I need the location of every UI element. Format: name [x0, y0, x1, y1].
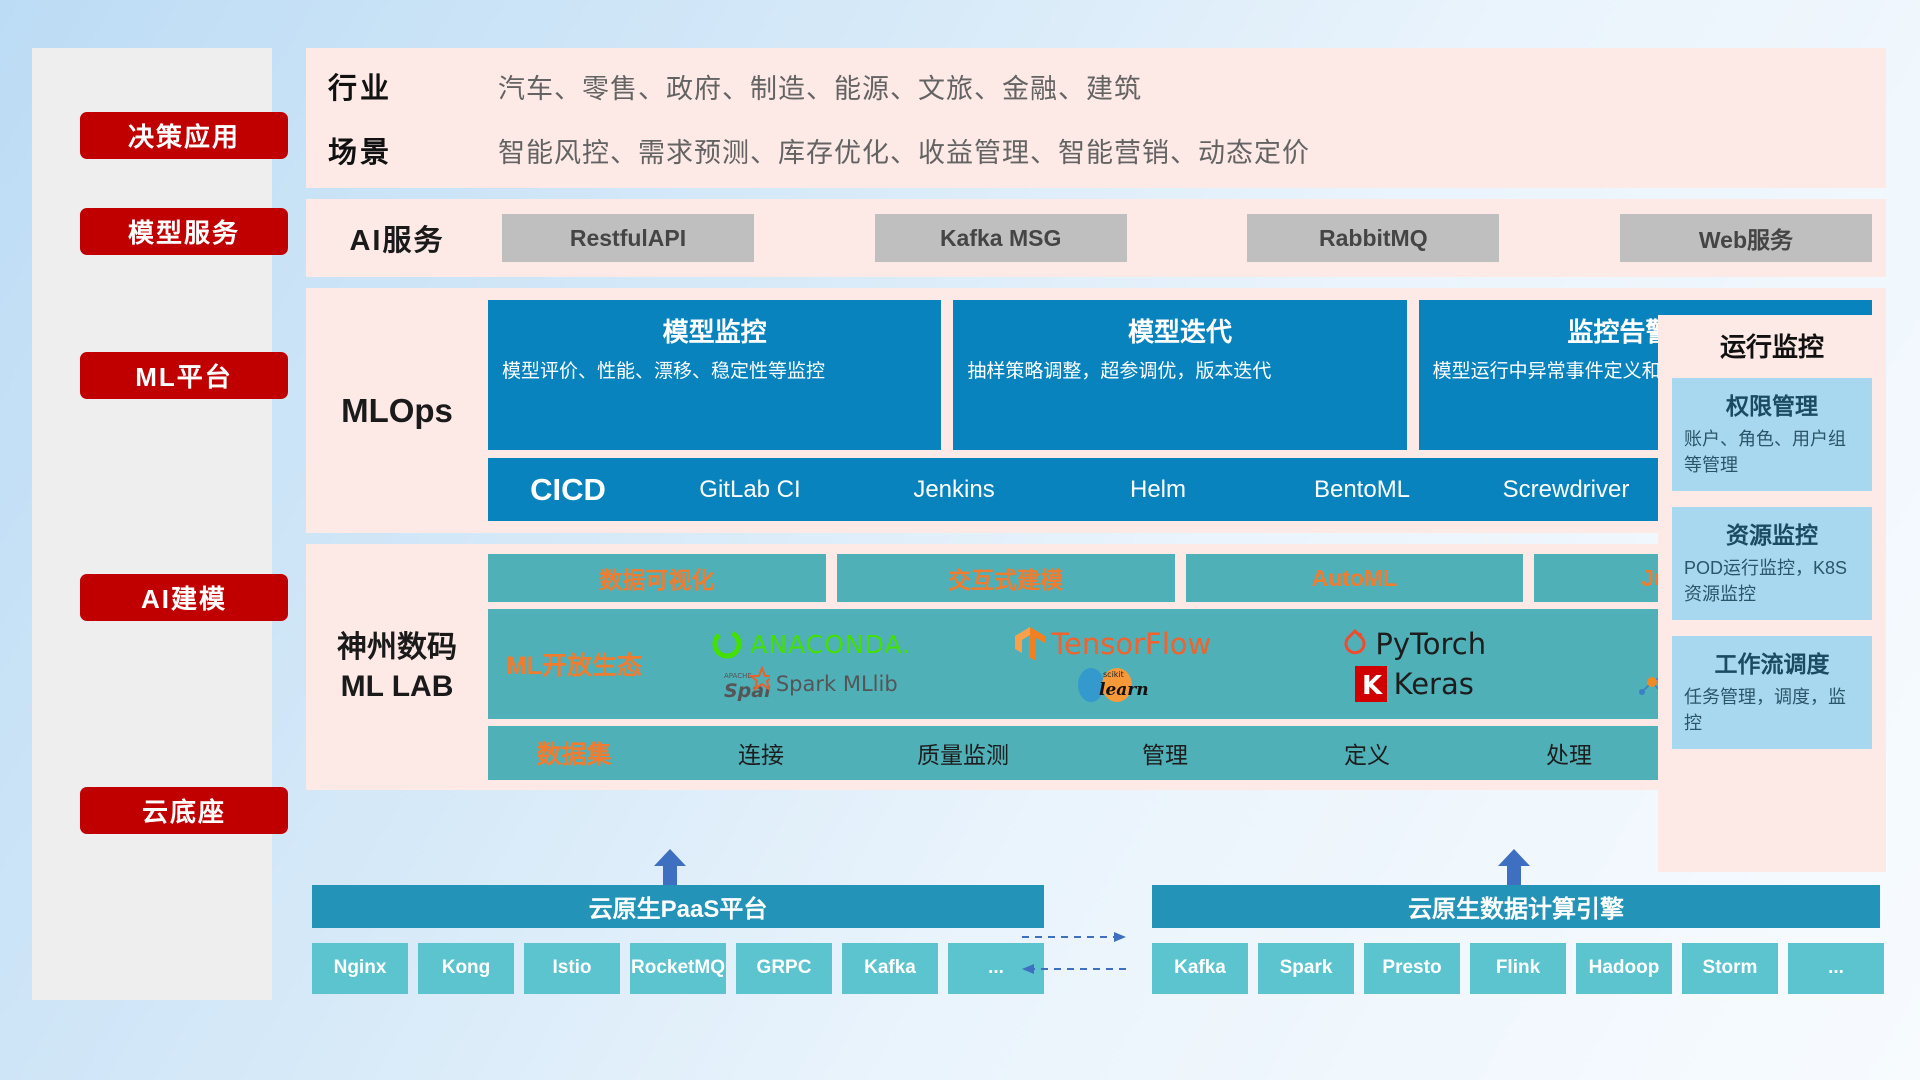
chip-kafka-right[interactable]: Kafka [1152, 943, 1248, 994]
left-rail: 决策应用 模型服务 ML平台 AI建模 云底座 [32, 48, 272, 1000]
card-desc: POD运行监控，K8S资源监控 [1684, 556, 1860, 607]
cicd-item-bentoml[interactable]: BentoML [1260, 474, 1464, 505]
rail-item-decision-app[interactable]: 决策应用 [80, 112, 288, 159]
monitor-card-workflow[interactable]: 工作流调度 任务管理，调度，监控 [1672, 636, 1872, 749]
mlops-band: MLOps 模型监控 模型评价、性能、漂移、稳定性等监控 模型迭代 抽样策略调整… [306, 288, 1886, 533]
industry-row: 行业 汽车、零售、政府、制造、能源、文旅、金融、建筑 [488, 65, 1866, 107]
keras-logo-text: Keras [1394, 667, 1474, 701]
architecture-diagram: 决策应用 模型服务 ML平台 AI建模 云底座 行业 汽车、零售、政府、制造、能… [0, 0, 1920, 1080]
service-kafka-msg[interactable]: Kafka MSG [875, 214, 1127, 262]
card-desc: 模型评价、性能、漂移、稳定性等监控 [502, 359, 927, 386]
mllab-band: 神州数码 ML LAB 数据可视化 交互式建模 AutoML JupyterLa… [306, 544, 1886, 790]
monitor-card-resource[interactable]: 资源监控 POD运行监控，K8S资源监控 [1672, 507, 1872, 620]
data-engine-bar[interactable]: 云原生数据计算引擎 [1152, 885, 1880, 928]
dataset-label: 数据集 [488, 735, 660, 771]
card-desc: 账户、角色、用户组等管理 [1684, 427, 1860, 478]
rail-item-cloud-base[interactable]: 云底座 [80, 787, 288, 834]
mlops-label: MLOps [306, 288, 488, 533]
chip-rocketmq[interactable]: RocketMQ [630, 943, 726, 994]
dataset-item-define[interactable]: 定义 [1266, 736, 1468, 770]
pytorch-mark-icon [1341, 627, 1369, 661]
svg-text:Spark: Spark [724, 680, 770, 702]
svg-text:K: K [1362, 671, 1383, 701]
runtime-monitor-title: 运行监控 [1720, 327, 1824, 364]
mllab-label: 神州数码 ML LAB [306, 544, 488, 790]
rail-item-ml-platform[interactable]: ML平台 [80, 352, 288, 399]
scenario-value: 智能风控、需求预测、库存优化、收益管理、智能营销、动态定价 [498, 131, 1310, 170]
bidirectional-dashed-connector [1020, 925, 1128, 981]
dataset-item-quality[interactable]: 质量监测 [862, 736, 1064, 770]
chip-storm[interactable]: Storm [1682, 943, 1778, 994]
cicd-label: CICD [488, 472, 648, 508]
tool-interactive-modeling[interactable]: 交互式建模 [837, 554, 1175, 602]
chip-istio[interactable]: Istio [524, 943, 620, 994]
chip-more-right[interactable]: ... [1788, 943, 1884, 994]
rail-item-model-service[interactable]: 模型服务 [80, 208, 288, 255]
pytorch-logo-text: PyTorch [1375, 627, 1486, 661]
mllib-logo-text: Spark MLlib [776, 672, 898, 696]
industry-band: 行业 汽车、零售、政府、制造、能源、文旅、金融、建筑 场景 智能风控、需求预测、… [306, 48, 1886, 188]
ai-service-label: AI服务 [306, 217, 488, 259]
rail-item-ai-modeling[interactable]: AI建模 [80, 574, 288, 621]
tensorflow-logo: TensorFlow [1013, 625, 1211, 663]
dataset-item-connect[interactable]: 连接 [660, 736, 862, 770]
industry-value: 汽车、零售、政府、制造、能源、文旅、金融、建筑 [498, 67, 1142, 106]
chip-flink[interactable]: Flink [1470, 943, 1566, 994]
mllab-label-line1: 神州数码 [337, 628, 457, 667]
paas-chip-group: Nginx Kong Istio RocketMQ GRPC Kafka ... [312, 943, 1044, 994]
mlops-card-model-monitoring[interactable]: 模型监控 模型评价、性能、漂移、稳定性等监控 [488, 300, 941, 450]
card-desc: 抽样策略调整，超参调优，版本迭代 [967, 359, 1392, 386]
chip-hadoop[interactable]: Hadoop [1576, 943, 1672, 994]
cicd-item-jenkins[interactable]: Jenkins [852, 474, 1056, 505]
cicd-item-gitlab-ci[interactable]: GitLab CI [648, 474, 852, 505]
service-restfulapi[interactable]: RestfulAPI [502, 214, 754, 262]
keras-mark-icon: K [1354, 665, 1388, 703]
dataset-item-manage[interactable]: 管理 [1064, 736, 1266, 770]
tool-data-visualization[interactable]: 数据可视化 [488, 554, 826, 602]
card-title: 权限管理 [1684, 387, 1860, 421]
card-title: 模型监控 [502, 312, 927, 349]
tensorflow-mark-icon [1013, 625, 1047, 663]
chip-presto[interactable]: Presto [1364, 943, 1460, 994]
spark-mark-icon: APACHE Spark [724, 666, 770, 702]
service-web[interactable]: Web服务 [1620, 214, 1872, 262]
svg-text:APACHE: APACHE [724, 672, 752, 680]
card-title: 工作流调度 [1684, 645, 1860, 679]
dataset-item-process[interactable]: 处理 [1468, 736, 1670, 770]
chip-grpc[interactable]: GRPC [736, 943, 832, 994]
chip-nginx[interactable]: Nginx [312, 943, 408, 994]
chip-spark[interactable]: Spark [1258, 943, 1354, 994]
monitor-card-permission[interactable]: 权限管理 账户、角色、用户组等管理 [1672, 378, 1872, 491]
card-title: 资源监控 [1684, 516, 1860, 550]
chip-kong[interactable]: Kong [418, 943, 514, 994]
spark-mllib-logo: APACHE Spark Spark MLlib [724, 666, 898, 702]
ml-ecosystem-label: ML开放生态 [488, 646, 660, 682]
pytorch-logo: PyTorch [1341, 627, 1486, 661]
paas-platform-bar[interactable]: 云原生PaaS平台 [312, 885, 1044, 928]
mllab-label-line2: ML LAB [341, 667, 454, 706]
anaconda-logo-text: ANACONDA. [750, 630, 911, 659]
anaconda-mark-icon [710, 627, 744, 661]
data-engine-chip-group: Kafka Spark Presto Flink Hadoop Storm ..… [1152, 943, 1884, 994]
card-title: 模型迭代 [967, 312, 1392, 349]
service-rabbitmq[interactable]: RabbitMQ [1247, 214, 1499, 262]
svg-text:learn: learn [1099, 680, 1149, 700]
keras-logo: K Keras [1354, 665, 1474, 703]
main-column: 行业 汽车、零售、政府、制造、能源、文旅、金融、建筑 场景 智能风控、需求预测、… [306, 48, 1886, 801]
scikit-learn-mark-icon: scikit learn [1073, 664, 1151, 704]
scenario-row: 场景 智能风控、需求预测、库存优化、收益管理、智能营销、动态定价 [488, 129, 1866, 171]
mlops-card-model-iteration[interactable]: 模型迭代 抽样策略调整，超参调优，版本迭代 [953, 300, 1406, 450]
chip-kafka[interactable]: Kafka [842, 943, 938, 994]
industry-key: 行业 [328, 65, 498, 107]
ai-service-band: AI服务 RestfulAPI Kafka MSG RabbitMQ Web服务 [306, 199, 1886, 277]
cicd-item-screwdriver[interactable]: Screwdriver [1464, 474, 1668, 505]
cicd-item-helm[interactable]: Helm [1056, 474, 1260, 505]
card-desc: 任务管理，调度，监控 [1684, 685, 1860, 736]
scenario-key: 场景 [328, 129, 498, 171]
anaconda-logo: ANACONDA. [710, 627, 911, 661]
runtime-monitor-panel: 运行监控 权限管理 账户、角色、用户组等管理 资源监控 POD运行监控，K8S资… [1658, 315, 1886, 872]
svg-text:scikit: scikit [1103, 670, 1124, 679]
tool-automl[interactable]: AutoML [1186, 554, 1524, 602]
tensorflow-logo-text: TensorFlow [1051, 627, 1211, 661]
scikit-learn-logo: scikit learn [1073, 664, 1151, 704]
